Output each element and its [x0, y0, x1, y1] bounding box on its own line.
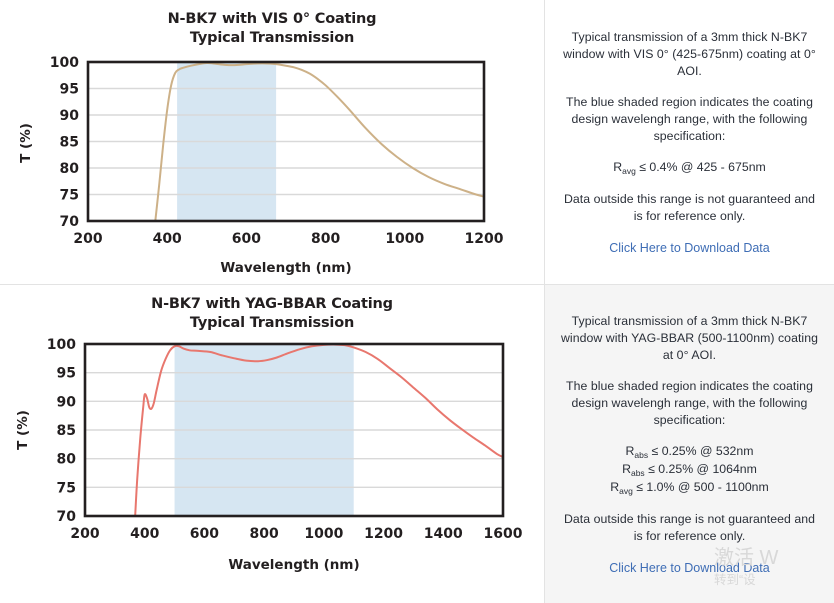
x-axis-title-vis: Wavelength (nm) [220, 260, 351, 276]
desc-vis-para1: Typical transmission of a 3mm thick N-BK… [559, 29, 820, 80]
x-tick-label: 800 [311, 231, 340, 247]
spec-item: Rabs ≤ 0.25% @ 1064nm [610, 461, 769, 479]
desc-yag-para2: The blue shaded region indicates the coa… [559, 378, 820, 429]
y-axis-ticks-yag: 707580859095100 [47, 337, 76, 525]
y-tick-label: 75 [57, 480, 76, 496]
y-axis-title-vis: T (%) [18, 123, 34, 163]
plot-wrap-yag: 707580859095100 200400600800100012001400… [0, 333, 545, 591]
chart-panel-vis: N-BK7 with VIS 0° Coating Typical Transm… [0, 0, 545, 284]
spec-item: Ravg ≤ 0.4% @ 425 - 675nm [613, 159, 766, 177]
x-tick-label: 600 [232, 231, 261, 247]
y-tick-label: 70 [57, 509, 77, 525]
spec-item: Ravg ≤ 1.0% @ 500 - 1100nm [610, 479, 769, 497]
x-axis-ticks-yag: 2004006008001000120014001600 [70, 526, 522, 542]
chart-title-vis-line1: N-BK7 with VIS 0° Coating [168, 11, 377, 27]
spec-value: ≤ 1.0% @ 500 - 1100nm [633, 480, 769, 494]
spec-value: ≤ 0.4% @ 425 - 675nm [636, 160, 766, 174]
y-axis-ticks-vis: 707580859095100 [50, 55, 79, 230]
x-axis-ticks-vis: 20040060080010001200 [73, 231, 503, 247]
y-tick-label: 85 [60, 135, 79, 151]
y-tick-label: 80 [60, 161, 80, 177]
description-panel-yag: Typical transmission of a 3mm thick N-BK… [545, 285, 834, 603]
download-data-link-yag[interactable]: Click Here to Download Data [609, 561, 770, 575]
x-tick-label: 200 [70, 526, 99, 542]
spec-value: ≤ 0.25% @ 1064nm [645, 462, 757, 476]
spec-subscript: abs [631, 468, 645, 478]
spec-symbol: R [613, 160, 622, 174]
spec-list-vis: Ravg ≤ 0.4% @ 425 - 675nm [613, 159, 766, 177]
x-axis-title-yag: Wavelength (nm) [228, 557, 359, 573]
x-tick-label: 400 [130, 526, 159, 542]
desc-yag-para3: Data outside this range is not guarantee… [559, 511, 820, 545]
y-tick-label: 100 [47, 337, 76, 353]
desc-vis-para3: Data outside this range is not guarantee… [559, 191, 820, 225]
description-panel-vis: Typical transmission of a 3mm thick N-BK… [545, 0, 834, 284]
y-tick-label: 90 [60, 108, 80, 124]
download-data-link-vis[interactable]: Click Here to Download Data [609, 241, 770, 255]
y-tick-label: 85 [57, 423, 76, 439]
x-tick-label: 1000 [385, 231, 424, 247]
chart-panel-yag: N-BK7 with YAG-BBAR Coating Typical Tran… [0, 285, 545, 603]
spec-subscript: avg [619, 486, 633, 496]
y-tick-label: 90 [57, 394, 77, 410]
y-tick-label: 75 [60, 188, 79, 204]
x-tick-label: 800 [250, 526, 279, 542]
chart-title-yag: N-BK7 with YAG-BBAR Coating Typical Tran… [0, 285, 544, 333]
x-tick-label: 1400 [424, 526, 463, 542]
y-tick-label: 80 [57, 452, 77, 468]
chart-svg-vis: 707580859095100 20040060080010001200 T (… [0, 48, 545, 283]
chart-title-vis-line2: Typical Transmission [0, 29, 544, 48]
desc-yag-para1: Typical transmission of a 3mm thick N-BK… [559, 313, 820, 364]
y-tick-label: 95 [60, 82, 79, 98]
spec-item: Rabs ≤ 0.25% @ 532nm [610, 443, 769, 461]
y-tick-label: 70 [60, 214, 80, 230]
spec-subscript: avg [622, 166, 636, 176]
y-tick-label: 100 [50, 55, 79, 71]
chart-row-yag: N-BK7 with YAG-BBAR Coating Typical Tran… [0, 285, 834, 603]
spec-symbol: R [622, 462, 631, 476]
chart-svg-yag: 707580859095100 200400600800100012001400… [0, 333, 545, 591]
spec-subscript: abs [634, 450, 648, 460]
x-tick-label: 1200 [364, 526, 403, 542]
y-tick-label: 95 [57, 366, 76, 382]
x-tick-label: 1200 [465, 231, 504, 247]
chart-title-yag-line2: Typical Transmission [0, 314, 544, 333]
chart-title-vis: N-BK7 with VIS 0° Coating Typical Transm… [0, 0, 544, 48]
x-tick-label: 400 [153, 231, 182, 247]
x-tick-label: 1600 [484, 526, 523, 542]
plot-wrap-vis: 707580859095100 20040060080010001200 T (… [0, 48, 545, 283]
transmission-spec-page: N-BK7 with VIS 0° Coating Typical Transm… [0, 0, 834, 603]
spec-symbol: R [610, 480, 619, 494]
x-tick-label: 600 [190, 526, 219, 542]
x-tick-label: 1000 [304, 526, 343, 542]
chart-title-yag-line1: N-BK7 with YAG-BBAR Coating [151, 296, 393, 312]
y-axis-title-yag: T (%) [15, 410, 31, 450]
spec-value: ≤ 0.25% @ 532nm [648, 444, 753, 458]
x-tick-label: 200 [73, 231, 102, 247]
desc-vis-para2: The blue shaded region indicates the coa… [559, 94, 820, 145]
chart-row-vis: N-BK7 with VIS 0° Coating Typical Transm… [0, 0, 834, 285]
spec-list-yag: Rabs ≤ 0.25% @ 532nm Rabs ≤ 0.25% @ 1064… [610, 443, 769, 497]
